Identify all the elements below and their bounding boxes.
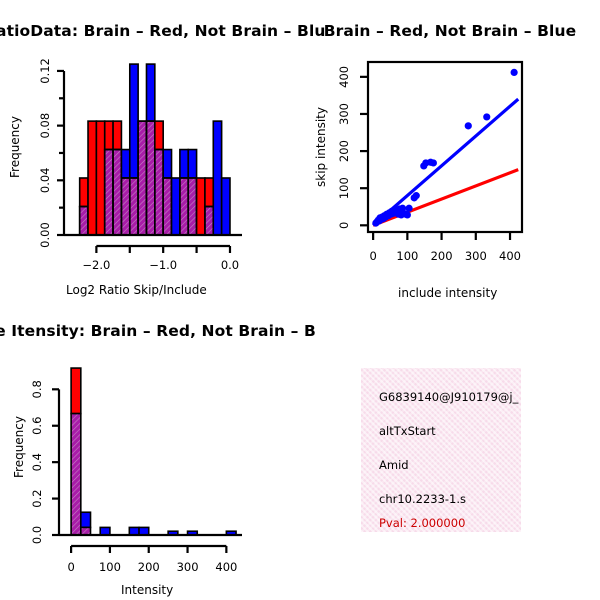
histogram-bar-overlap bbox=[121, 178, 129, 235]
y-tick-label: 200 bbox=[337, 140, 351, 162]
y-tick-label: 300 bbox=[337, 103, 351, 125]
x-tick-label: 200 bbox=[431, 249, 453, 263]
histogram-bar-overlap bbox=[130, 178, 138, 235]
histogram-bar bbox=[172, 178, 180, 235]
histogram-bars bbox=[80, 64, 230, 235]
histogram-bar bbox=[80, 178, 88, 207]
histogram-bar-overlap bbox=[80, 207, 88, 235]
scatter-point bbox=[430, 159, 437, 166]
histogram-bar bbox=[180, 150, 188, 178]
regression-line bbox=[373, 99, 518, 225]
figure-canvas: RatioData: Brain – Red, Not Brain – Blu … bbox=[0, 0, 600, 600]
y-tick-label: 0.04 bbox=[38, 168, 52, 194]
x-tick-label: 0 bbox=[369, 249, 376, 263]
histogram-bar-overlap bbox=[105, 150, 113, 235]
gene-intensity-title: ne Itensity: Brain – Red, Not Brain – B bbox=[0, 322, 284, 340]
histogram-bar bbox=[71, 368, 81, 414]
info-line-region: Amid bbox=[379, 458, 409, 472]
histogram-bars bbox=[71, 368, 236, 535]
x-tick-label: −2.0 bbox=[82, 258, 110, 272]
x-tick-label: 400 bbox=[215, 560, 237, 574]
gene-intensity-plot: 0.00.20.40.60.80100200300400 bbox=[0, 350, 300, 600]
gene-intensity-xlabel: Intensity bbox=[121, 583, 173, 597]
histogram-bar bbox=[100, 527, 110, 535]
histogram-bar-overlap bbox=[81, 527, 91, 535]
x-tick-label: 400 bbox=[499, 249, 521, 263]
regression-line bbox=[373, 170, 518, 226]
histogram-bar bbox=[205, 178, 213, 207]
gene-intensity-ylabel: Frequency bbox=[12, 407, 26, 487]
x-tick-label: 100 bbox=[396, 249, 418, 263]
y-tick-label: 0.4 bbox=[30, 453, 44, 471]
info-line-event-type: altTxStart bbox=[379, 424, 436, 438]
x-tick-label: 300 bbox=[465, 249, 487, 263]
x-axis: −2.0−1.00.0 bbox=[82, 246, 239, 272]
scatter-point bbox=[405, 205, 412, 212]
info-line-gene-id: G6839140@J910179@j_ bbox=[379, 390, 518, 404]
histogram-bar bbox=[146, 64, 154, 121]
x-axis: 0100200300400 bbox=[67, 546, 237, 574]
x-tick-label: 0.0 bbox=[221, 258, 239, 272]
histogram-bar-overlap bbox=[205, 207, 213, 235]
histogram-bar-overlap bbox=[71, 414, 81, 535]
y-tick-label: 400 bbox=[337, 66, 351, 88]
scatter-point bbox=[483, 113, 490, 120]
scatter-point bbox=[413, 192, 420, 199]
regression-lines bbox=[373, 99, 518, 225]
histogram-bar bbox=[113, 121, 121, 149]
histogram-bar bbox=[155, 121, 163, 149]
y-tick-label: 0.8 bbox=[30, 380, 44, 398]
y-tick-label: 0.12 bbox=[38, 58, 52, 84]
histogram-bar bbox=[222, 178, 230, 235]
y-tick-label: 100 bbox=[337, 177, 351, 199]
histogram-bar-overlap bbox=[180, 178, 188, 235]
scatter-points bbox=[372, 69, 517, 227]
info-line-coordinate: chr10.2233-1.s bbox=[379, 492, 466, 506]
y-tick-label: 0.00 bbox=[38, 222, 52, 248]
x-tick-label: −1.0 bbox=[149, 258, 177, 272]
histogram-bar-overlap bbox=[146, 121, 154, 235]
histogram-bar bbox=[197, 178, 205, 235]
y-tick-label: 0.0 bbox=[30, 526, 44, 544]
histogram-bar-overlap bbox=[113, 150, 121, 235]
histogram-bar bbox=[139, 527, 149, 535]
ratio-histogram-xlabel: Log2 Ratio Skip/Include bbox=[66, 283, 207, 297]
histogram-bar bbox=[88, 121, 96, 235]
x-tick-label: 200 bbox=[138, 560, 160, 574]
plot-frame bbox=[368, 62, 522, 232]
scatter-title: Brain – Red, Not Brain – Blue bbox=[300, 22, 600, 40]
histogram-bar-overlap bbox=[188, 178, 196, 235]
histogram-bar bbox=[105, 121, 113, 149]
info-line-pvalue: Pval: 2.000000 bbox=[379, 516, 465, 530]
x-tick-label: 300 bbox=[177, 560, 199, 574]
histogram-bar bbox=[188, 150, 196, 178]
y-axis: 0.00.20.40.60.8 bbox=[30, 380, 59, 544]
panel-event-info: G6839140@J910179@j_ altTxStart Amid chr1… bbox=[361, 368, 521, 532]
y-tick-label: 0.08 bbox=[38, 113, 52, 139]
x-axis: 0100200300400 bbox=[369, 232, 521, 263]
histogram-bar bbox=[96, 121, 104, 235]
scatter-point bbox=[404, 211, 411, 218]
histogram-bar-overlap bbox=[138, 121, 146, 235]
intensity-scatter-plot: 01002003004000100200300400 bbox=[300, 50, 600, 300]
histogram-bar bbox=[129, 527, 139, 535]
histogram-bar-overlap bbox=[163, 178, 171, 235]
ratio-histogram-ylabel: Frequency bbox=[8, 107, 22, 187]
y-tick-label: 0.2 bbox=[30, 489, 44, 507]
scatter-xlabel: include intensity bbox=[398, 286, 497, 300]
histogram-bar bbox=[163, 150, 171, 178]
x-tick-label: 100 bbox=[99, 560, 121, 574]
x-tick-label: 0 bbox=[67, 560, 74, 574]
histogram-bar-overlap bbox=[155, 150, 163, 235]
ratio-histogram-plot: 0.000.040.080.12−2.0−1.00.0 bbox=[0, 50, 300, 300]
y-axis: 0100200300400 bbox=[337, 66, 368, 229]
scatter-point bbox=[465, 122, 472, 129]
scatter-point bbox=[511, 69, 518, 76]
y-tick-label: 0.6 bbox=[30, 417, 44, 435]
histogram-bar bbox=[121, 150, 129, 178]
histogram-bar bbox=[213, 121, 221, 235]
y-tick-label: 0 bbox=[337, 222, 351, 229]
scatter-ylabel: skip intensity bbox=[314, 107, 328, 187]
histogram-bar bbox=[81, 512, 91, 527]
ratio-histogram-title: RatioData: Brain – Red, Not Brain – Blu bbox=[0, 22, 284, 40]
y-axis: 0.000.040.080.12 bbox=[38, 58, 64, 248]
histogram-bar bbox=[130, 64, 138, 178]
